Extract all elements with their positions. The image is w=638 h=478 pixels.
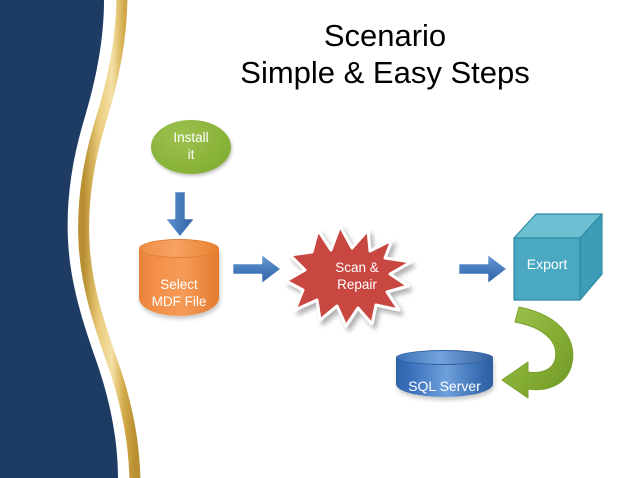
step-select-mdf-cylinder[interactable]: Select MDF File — [139, 239, 219, 325]
step-install-oval[interactable]: Install it — [151, 120, 231, 174]
cylinder-body — [139, 248, 219, 316]
title-line-2: Simple & Easy Steps — [150, 55, 620, 92]
arrow-down-icon — [160, 189, 200, 241]
slide-canvas: Scenario Simple & Easy Steps Install it … — [0, 0, 638, 478]
step-scan-repair-starburst[interactable]: Scan & Repair — [284, 224, 416, 328]
arrow-right-icon-1 — [230, 251, 284, 287]
step-export-cube[interactable]: Export — [512, 211, 604, 303]
oval-shape — [151, 120, 231, 174]
arrow-curved-icon — [494, 300, 600, 400]
navy-wave-shape — [0, 0, 118, 478]
cube-front-face — [514, 238, 580, 300]
curved-arrow-shape — [502, 307, 573, 398]
title-line-1: Scenario — [150, 18, 620, 55]
page-title: Scenario Simple & Easy Steps — [150, 18, 620, 91]
gold-stripe — [84, 0, 135, 478]
starburst-shape — [286, 226, 411, 326]
arrow-right-icon-2 — [456, 251, 510, 287]
cylinder-top — [139, 239, 219, 258]
cylinder-top — [396, 350, 493, 365]
step-sql-server-cylinder[interactable]: SQL Server — [396, 350, 493, 402]
